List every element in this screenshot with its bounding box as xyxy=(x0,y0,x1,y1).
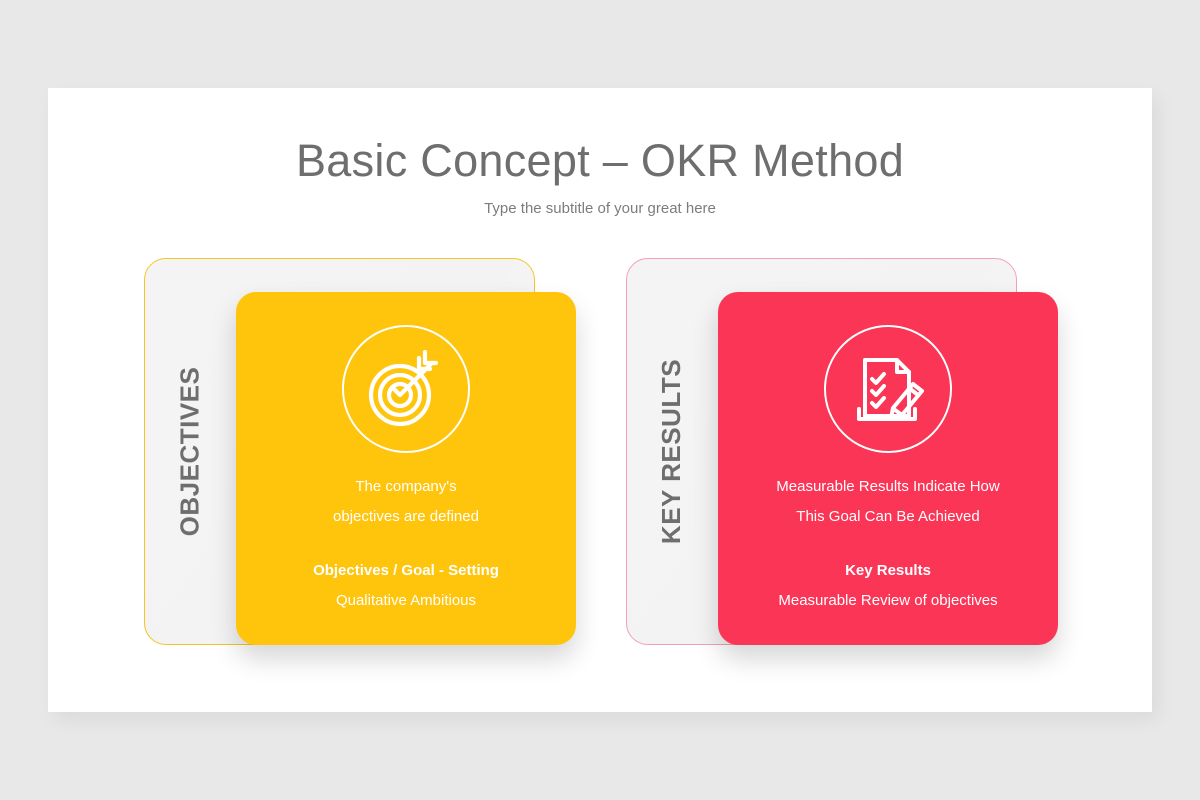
key-results-body-line-1: Measurable Results Indicate How xyxy=(718,472,1058,502)
objectives-footer-line-1: Objectives / Goal - Setting xyxy=(236,556,576,586)
objectives-card-text: The company's objectives are defined Obj… xyxy=(236,472,576,616)
spacer xyxy=(236,532,576,556)
spacer xyxy=(718,532,1058,556)
checklist-pencil-icon-ring xyxy=(824,325,952,453)
objectives-body-line-1: The company's xyxy=(236,472,576,502)
objectives-card[interactable]: The company's objectives are defined Obj… xyxy=(236,292,576,645)
target-arrow-icon xyxy=(363,346,449,432)
column-objectives: OBJECTIVES xyxy=(144,258,584,658)
slide-canvas: Basic Concept – OKR Method Type the subt… xyxy=(48,88,1152,712)
key-results-card-text: Measurable Results Indicate How This Goa… xyxy=(718,472,1058,616)
objectives-footer-line-2: Qualitative Ambitious xyxy=(236,586,576,616)
target-arrow-icon-ring xyxy=(342,325,470,453)
key-results-card[interactable]: Measurable Results Indicate How This Goa… xyxy=(718,292,1058,645)
key-results-body-line-2: This Goal Can Be Achieved xyxy=(718,502,1058,532)
key-results-footer-line-1: Key Results xyxy=(718,556,1058,586)
page-title: Basic Concept – OKR Method xyxy=(48,135,1152,187)
objectives-body-line-2: objectives are defined xyxy=(236,502,576,532)
checklist-pencil-icon xyxy=(845,346,931,432)
column-key-results: KEY RESULTS xyxy=(626,258,1066,658)
key-results-footer-line-2: Measurable Review of objectives xyxy=(718,586,1058,616)
page-subtitle: Type the subtitle of your great here xyxy=(48,200,1152,217)
